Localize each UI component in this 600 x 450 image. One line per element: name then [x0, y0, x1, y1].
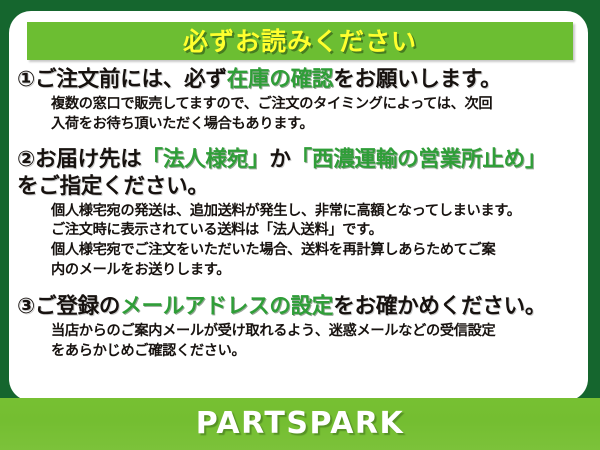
item-1-heading-part-3: をお願いします。: [333, 67, 501, 92]
item-2-marker: ②: [17, 147, 35, 172]
notice-card: 必ずお読みください ①ご注文前には、必ず在庫の確認をお願いします。 複数の窓口で…: [9, 11, 588, 401]
item-2-heading-part-1: お届け先は: [35, 147, 142, 172]
item-2-subline-1: 個人様宅宛の発送は、追加送料が発生し、非常に高額となってしまいます。: [51, 202, 578, 222]
notice-image: 必ずお読みください ①ご注文前には、必ず在庫の確認をお願いします。 複数の窓口で…: [0, 0, 600, 450]
item-3-marker: ③: [17, 294, 35, 319]
item-3-subline-2: をあらかじめご確認ください。: [51, 342, 578, 362]
item-2-heading-line-2: をご指定ください。: [17, 174, 578, 200]
item-3-heading-part-3: をお確かめください。: [333, 294, 546, 319]
item-1-subtext: 複数の窓口で販売してますので、ご注文のタイミングによっては、次回 入荷をお待ち頂…: [51, 95, 578, 134]
footer-brand-band: PARTSPARK: [0, 398, 600, 450]
brand-logo-text: PARTSPARK: [196, 409, 405, 439]
notice-item-1: ①ご注文前には、必ず在庫の確認をお願いします。 複数の窓口で販売してますので、ご…: [9, 67, 588, 134]
item-2-heading-part-3: か: [269, 147, 290, 172]
item-2-heading-line-1: ②お届け先は「法人様宛」か「西濃運輸の営業所止め」: [17, 147, 578, 173]
item-3-heading-highlight: メールアドレスの設定: [120, 294, 333, 319]
item-2-heading-highlight-1: 「法人様宛」: [142, 147, 270, 172]
item-2-heading-highlight-2: 「西濃運輸の営業所止め」: [291, 147, 547, 172]
item-1-heading-part-1: ご注文前には、必ず: [35, 67, 227, 92]
item-2-subline-2: ご注文時に表示されている送料は「法人送料」です。: [51, 221, 578, 241]
item-3-subline-1: 当店からのご案内メールが受け取れるよう、迷惑メールなどの受信設定: [51, 322, 578, 342]
item-3-subtext: 当店からのご案内メールが受け取れるよう、迷惑メールなどの受信設定 をあらかじめご…: [51, 322, 578, 361]
page-title: 必ずお読みください: [183, 29, 417, 54]
notice-item-2: ②お届け先は「法人様宛」か「西濃運輸の営業所止め」 をご指定ください。 個人様宅…: [9, 147, 588, 280]
item-2-subline-3: 個人様宅宛でご注文をいただいた場合、送料を再計算しあらためてご案: [51, 241, 578, 261]
item-1-heading-highlight: 在庫の確認: [227, 67, 334, 92]
item-2-subtext: 個人様宅宛の発送は、追加送料が発生し、非常に高額となってしまいます。 ご注文時に…: [51, 202, 578, 280]
item-3-heading-part-1: ご登録の: [35, 294, 120, 319]
item-3-heading: ③ご登録のメールアドレスの設定をお確かめください。: [17, 294, 578, 320]
item-2-subline-4: 内のメールをお送りします。: [51, 261, 578, 281]
notice-item-3: ③ご登録のメールアドレスの設定をお確かめください。 当店からのご案内メールが受け…: [9, 294, 588, 361]
item-1-marker: ①: [17, 67, 35, 92]
header-banner: 必ずお読みください: [27, 22, 573, 60]
item-1-subline-1: 複数の窓口で販売してますので、ご注文のタイミングによっては、次回: [51, 95, 578, 115]
item-2-heading-part-5: をご指定ください。: [17, 174, 209, 199]
item-1-heading: ①ご注文前には、必ず在庫の確認をお願いします。: [17, 67, 578, 93]
notice-items: ①ご注文前には、必ず在庫の確認をお願いします。 複数の窓口で販売してますので、ご…: [9, 67, 588, 362]
item-1-subline-2: 入荷をお待ち頂いただく場合もあります。: [51, 115, 578, 135]
